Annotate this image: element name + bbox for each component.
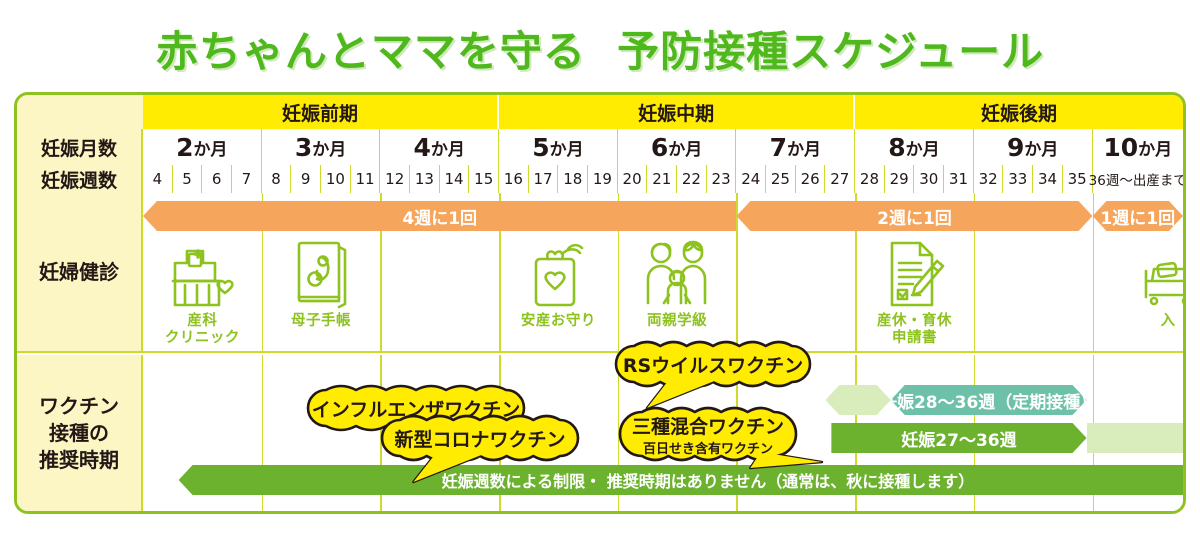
week-cell-19: 23 bbox=[707, 165, 737, 193]
hospital-icon bbox=[167, 237, 237, 311]
vaccine-bar-3 bbox=[1087, 423, 1186, 453]
period-row-label-pad bbox=[17, 95, 143, 129]
month-number: 6 bbox=[651, 133, 668, 162]
dtap-vaccine-bubble: 三種混合ワクチン百日せき含有ワクチン bbox=[620, 412, 796, 456]
week-header-row: 妊娠週数 45678910111213141516171819202122232… bbox=[17, 165, 1183, 193]
infographic-root: 赤ちゃんとママを守る 予防接種スケジュール 妊娠前期妊娠中期妊娠後期 妊娠月数 … bbox=[0, 0, 1200, 550]
month-cell-2: 2か月 bbox=[143, 129, 262, 165]
week-cell-13: 17 bbox=[529, 165, 559, 193]
month-cell-6: 6か月 bbox=[618, 129, 737, 165]
month-unit: か月 bbox=[1138, 135, 1172, 160]
week-cell-10: 14 bbox=[440, 165, 470, 193]
checkup-icon-cell-0: 産科 クリニック bbox=[161, 237, 244, 348]
month-header-row: 妊娠月数 2か月3か月4か月5か月6か月7か月8か月9か月10か月 bbox=[17, 129, 1183, 165]
checkup-icon-cell-5: 入 院 bbox=[1081, 237, 1187, 330]
week-cell-15: 19 bbox=[588, 165, 618, 193]
week-cell-20: 24 bbox=[736, 165, 766, 193]
month-unit: か月 bbox=[668, 135, 702, 160]
checkup-icon-cell-2: 安産お守り bbox=[517, 237, 600, 330]
week-cell-26: 30 bbox=[914, 165, 944, 193]
month-number: 10 bbox=[1103, 133, 1138, 162]
period-header-0: 妊娠前期 bbox=[143, 95, 499, 129]
checkup-bar-0: 4週に1回 bbox=[143, 201, 736, 231]
week-cell-9: 13 bbox=[410, 165, 440, 193]
month-unit: か月 bbox=[787, 135, 821, 160]
row-header-weeks: 妊娠週数 bbox=[17, 165, 143, 193]
leave-form-icon bbox=[882, 237, 946, 311]
icon-caption: 安産お守り bbox=[521, 313, 596, 330]
icon-caption: 両親学級 bbox=[647, 313, 707, 330]
week-cell-24: 28 bbox=[855, 165, 885, 193]
icon-caption: 産休・育休 申請書 bbox=[877, 313, 952, 348]
checkup-icon-cell-3: 両親学級 bbox=[635, 237, 718, 330]
week-cell-21: 25 bbox=[766, 165, 796, 193]
checkup-bar-1: 2週に1回 bbox=[736, 201, 1092, 231]
covid-vaccine-bubble: 新型コロナワクチン bbox=[382, 420, 578, 456]
month-number: 7 bbox=[770, 133, 787, 162]
week-cell-23: 27 bbox=[825, 165, 855, 193]
icon-caption: 産科 クリニック bbox=[165, 313, 240, 348]
bubble-shape bbox=[382, 420, 578, 456]
rs-virus-vaccine-bubble: RSウイルスワクチン bbox=[616, 346, 810, 382]
page-title: 赤ちゃんとママを守る 予防接種スケジュール bbox=[0, 18, 1200, 79]
week-cell-29: 33 bbox=[1003, 165, 1033, 193]
month-unit: か月 bbox=[194, 135, 228, 160]
week-cell-30: 34 bbox=[1033, 165, 1063, 193]
week-cell-5: 9 bbox=[291, 165, 321, 193]
vaccine-row: ワクチン 接種の 推奨時期 妊娠28〜36週（定期接種）妊娠27〜36週妊娠週数… bbox=[17, 355, 1183, 511]
week-cell-18: 22 bbox=[677, 165, 707, 193]
checkup-bar-2: 1週に1回 bbox=[1093, 201, 1183, 231]
checkup-icon-cell-4: 産休・育休 申請書 bbox=[873, 237, 956, 348]
row-header-vaccine: ワクチン 接種の 推奨時期 bbox=[17, 355, 143, 511]
month-number: 2 bbox=[176, 133, 193, 162]
bubble-shape bbox=[616, 346, 810, 382]
week-cell-28: 32 bbox=[974, 165, 1004, 193]
week-cell-4: 8 bbox=[262, 165, 292, 193]
period-header-2: 妊娠後期 bbox=[855, 95, 1183, 129]
week-cell-22: 26 bbox=[796, 165, 826, 193]
month-number: 4 bbox=[414, 133, 431, 162]
bubble-shape bbox=[620, 412, 796, 456]
week-cell-25: 29 bbox=[885, 165, 915, 193]
week-cell-1: 5 bbox=[173, 165, 203, 193]
checkup-bar-3: 出産 bbox=[1183, 201, 1186, 231]
schedule-table-panel: 妊娠前期妊娠中期妊娠後期 妊娠月数 2か月3か月4か月5か月6か月7か月8か月9… bbox=[14, 92, 1186, 514]
week-cell-11: 15 bbox=[469, 165, 499, 193]
month-unit: か月 bbox=[1024, 135, 1058, 160]
month-number: 8 bbox=[888, 133, 905, 162]
row-header-checkup: 妊婦健診 bbox=[17, 193, 143, 351]
month-cell-8: 8か月 bbox=[855, 129, 974, 165]
omamori-tag-icon bbox=[522, 237, 594, 311]
month-cell-9: 9か月 bbox=[974, 129, 1093, 165]
row-header-months: 妊娠月数 bbox=[17, 129, 143, 165]
month-cell-3: 3か月 bbox=[262, 129, 381, 165]
week-cell-6: 10 bbox=[321, 165, 351, 193]
week-cell-27: 31 bbox=[944, 165, 974, 193]
month-unit: か月 bbox=[312, 135, 346, 160]
week-cell-17: 21 bbox=[647, 165, 677, 193]
week-cell-2: 6 bbox=[202, 165, 232, 193]
week-cell-12: 16 bbox=[499, 165, 529, 193]
week-cell-32: 36週〜出産まで bbox=[1093, 165, 1183, 193]
vaccine-bar-2: 妊娠27〜36週 bbox=[831, 423, 1086, 453]
checkup-icon-cell-1: 母子手帳 bbox=[279, 237, 362, 330]
hospital-bed-icon bbox=[1138, 237, 1186, 311]
month-number: 9 bbox=[1007, 133, 1024, 162]
week-cell-16: 20 bbox=[618, 165, 648, 193]
week-cell-0: 4 bbox=[143, 165, 173, 193]
family-class-icon bbox=[637, 237, 717, 311]
month-number: 5 bbox=[532, 133, 549, 162]
maternity-book-icon bbox=[291, 237, 351, 311]
week-cell-8: 12 bbox=[380, 165, 410, 193]
month-cell-4: 4か月 bbox=[380, 129, 499, 165]
week-cell-7: 11 bbox=[351, 165, 381, 193]
month-number: 3 bbox=[295, 133, 312, 162]
month-cell-5: 5か月 bbox=[499, 129, 618, 165]
period-header-1: 妊娠中期 bbox=[499, 95, 855, 129]
icon-caption: 入 院 bbox=[1160, 313, 1186, 330]
week-cell-3: 7 bbox=[232, 165, 262, 193]
vaccine-bar-4: 妊娠週数による制限・ 推奨時期はありません（通常は、秋に接種します） bbox=[179, 465, 1186, 495]
month-cell-7: 7か月 bbox=[736, 129, 855, 165]
month-unit: か月 bbox=[550, 135, 584, 160]
month-unit: か月 bbox=[906, 135, 940, 160]
month-unit: か月 bbox=[431, 135, 465, 160]
month-cell-10: 10か月 bbox=[1093, 129, 1183, 165]
period-header-row: 妊娠前期妊娠中期妊娠後期 bbox=[17, 95, 1183, 129]
vaccine-bar-1: 妊娠28〜36週（定期接種） bbox=[891, 385, 1087, 415]
week-cell-14: 18 bbox=[558, 165, 588, 193]
icon-caption: 母子手帳 bbox=[291, 313, 351, 330]
checkup-row: 妊婦健診 4週に1回2週に1回1週に1回出産 産科 クリニック母子手帳安産お守り… bbox=[17, 193, 1183, 353]
